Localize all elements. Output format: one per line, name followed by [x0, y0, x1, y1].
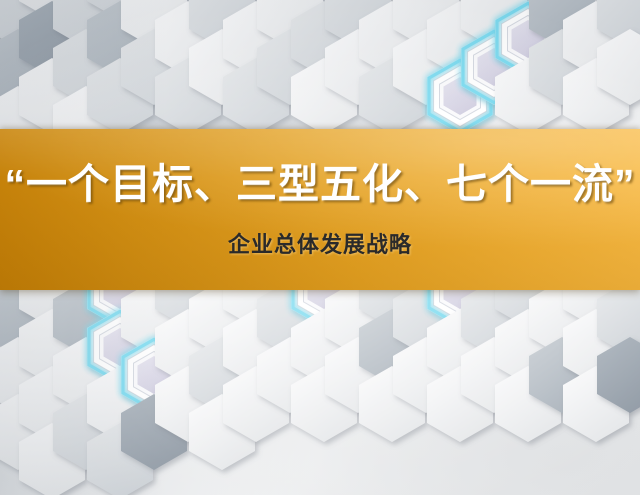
page-subtitle: 企业总体发展战略	[0, 227, 640, 259]
presentation-slide: “一个目标、三型五化、七个一流” 企业总体发展战略	[0, 0, 640, 495]
banner-sheen	[0, 129, 640, 290]
title-banner: “一个目标、三型五化、七个一流” 企业总体发展战略	[0, 129, 640, 290]
page-title: “一个目标、三型五化、七个一流”	[0, 163, 640, 206]
